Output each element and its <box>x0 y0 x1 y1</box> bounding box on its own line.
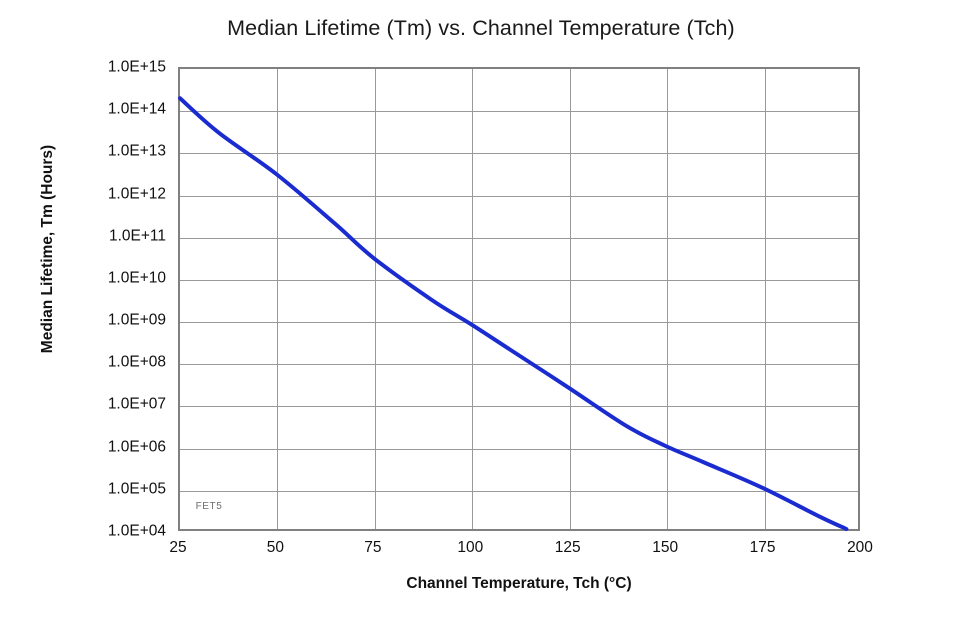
x-tick-label: 100 <box>425 539 515 557</box>
y-tick-label: 1.0E+05 <box>18 481 166 497</box>
y-tick-label: 1.0E+06 <box>18 439 166 455</box>
y-axis-tick-labels: 1.0E+151.0E+141.0E+131.0E+121.0E+111.0E+… <box>16 67 166 531</box>
y-tick-label: 1.0E+09 <box>18 312 166 328</box>
y-tick-label: 1.0E+12 <box>18 186 166 202</box>
y-tick-label: 1.0E+13 <box>18 144 166 160</box>
chart-title: Median Lifetime (Tm) vs. Channel Tempera… <box>0 16 962 41</box>
x-tick-label: 200 <box>815 539 905 557</box>
x-tick-label: 25 <box>133 539 223 557</box>
y-tick-label: 1.0E+14 <box>18 101 166 117</box>
y-tick-label: 1.0E+11 <box>18 228 166 244</box>
x-axis-tick-labels: 255075100125150175200 <box>178 539 860 563</box>
y-tick-label: 1.0E+04 <box>18 523 166 539</box>
y-tick-label: 1.0E+15 <box>18 59 166 75</box>
x-tick-label: 175 <box>718 539 808 557</box>
x-tick-label: 75 <box>328 539 418 557</box>
data-series-fet5 <box>180 98 846 529</box>
y-tick-label: 1.0E+10 <box>18 270 166 286</box>
plot-annotation-fet5: FET5 <box>196 501 223 512</box>
x-tick-label: 125 <box>523 539 613 557</box>
plot-area: FET5 <box>178 67 860 531</box>
series-canvas <box>180 69 858 529</box>
x-tick-label: 50 <box>230 539 320 557</box>
y-tick-label: 1.0E+07 <box>18 397 166 413</box>
x-axis-title: Channel Temperature, Tch (°C) <box>178 575 860 593</box>
chart-figure: Median Lifetime (Tm) vs. Channel Tempera… <box>0 0 962 623</box>
x-tick-label: 150 <box>620 539 710 557</box>
y-tick-label: 1.0E+08 <box>18 355 166 371</box>
